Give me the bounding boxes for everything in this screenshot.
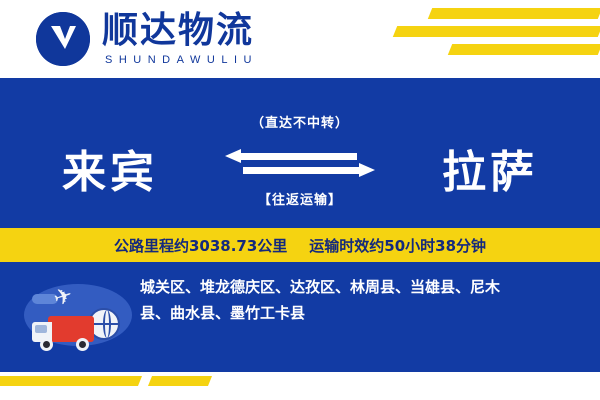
roundtrip-note: 【往返运输】 xyxy=(225,189,375,208)
route-middle: （直达不中转） 【往返运输】 xyxy=(225,112,375,208)
poster-footer xyxy=(0,372,600,400)
swoosh-logo-icon xyxy=(36,12,90,66)
coverage-line-1: 城关区、堆龙德庆区、达孜区、林周县、当雄县、尼木 xyxy=(140,274,570,300)
stripe-2 xyxy=(393,26,600,37)
poster-header: 顺达物流 SHUNDAWULIU xyxy=(0,0,600,78)
truck-cargo-box xyxy=(48,316,94,342)
logistics-poster: 顺达物流 SHUNDAWULIU 来宾 （直达不中转） xyxy=(0,0,600,400)
direct-note: （直达不中转） xyxy=(225,112,375,131)
logistics-illustration: ✈ xyxy=(24,274,134,360)
coverage-list: 城关区、堆龙德庆区、达孜区、林周县、当雄县、尼木 县、曲水县、墨竹工卡县 xyxy=(140,274,570,326)
brand-name-cn: 顺达物流 xyxy=(102,12,258,50)
arrow-bar-top xyxy=(239,153,357,160)
stripe-1 xyxy=(428,8,600,19)
truck-window xyxy=(35,325,47,333)
footer-stripe-2 xyxy=(148,376,212,386)
logo-glyph xyxy=(46,19,80,59)
destination-city: 拉萨 xyxy=(442,136,538,200)
truck-wheel-front xyxy=(40,338,53,351)
double-arrow-icon xyxy=(225,147,375,181)
arrow-bar-bottom xyxy=(243,167,361,174)
distance-text: 公路里程约3038.73公里 xyxy=(114,235,287,256)
poster-body: 来宾 （直达不中转） 【往返运输】 拉萨 公路里程约3038.73公里 运输时效 xyxy=(0,78,600,372)
swoosh-shape-icon xyxy=(46,19,80,53)
truck-wheel-rear xyxy=(76,338,89,351)
route-section: 来宾 （直达不中转） 【往返运输】 拉萨 xyxy=(0,112,600,222)
brand-logo: 顺达物流 SHUNDAWULIU xyxy=(36,12,258,66)
brand-name-en: SHUNDAWULIU xyxy=(102,54,258,66)
stripe-3 xyxy=(448,44,600,55)
origin-city: 来宾 xyxy=(62,136,158,200)
info-bar: 公路里程约3038.73公里 运输时效约50小时38分钟 xyxy=(0,228,600,262)
duration-text: 运输时效约50小时38分钟 xyxy=(309,235,486,256)
arrow-head-right-icon xyxy=(359,163,375,177)
coverage-line-2: 县、曲水县、墨竹工卡县 xyxy=(140,300,570,326)
arrow-row xyxy=(225,147,375,156)
brand-text: 顺达物流 SHUNDAWULIU xyxy=(102,12,258,66)
footer-stripe-1 xyxy=(0,376,142,386)
header-stripes xyxy=(370,0,600,78)
